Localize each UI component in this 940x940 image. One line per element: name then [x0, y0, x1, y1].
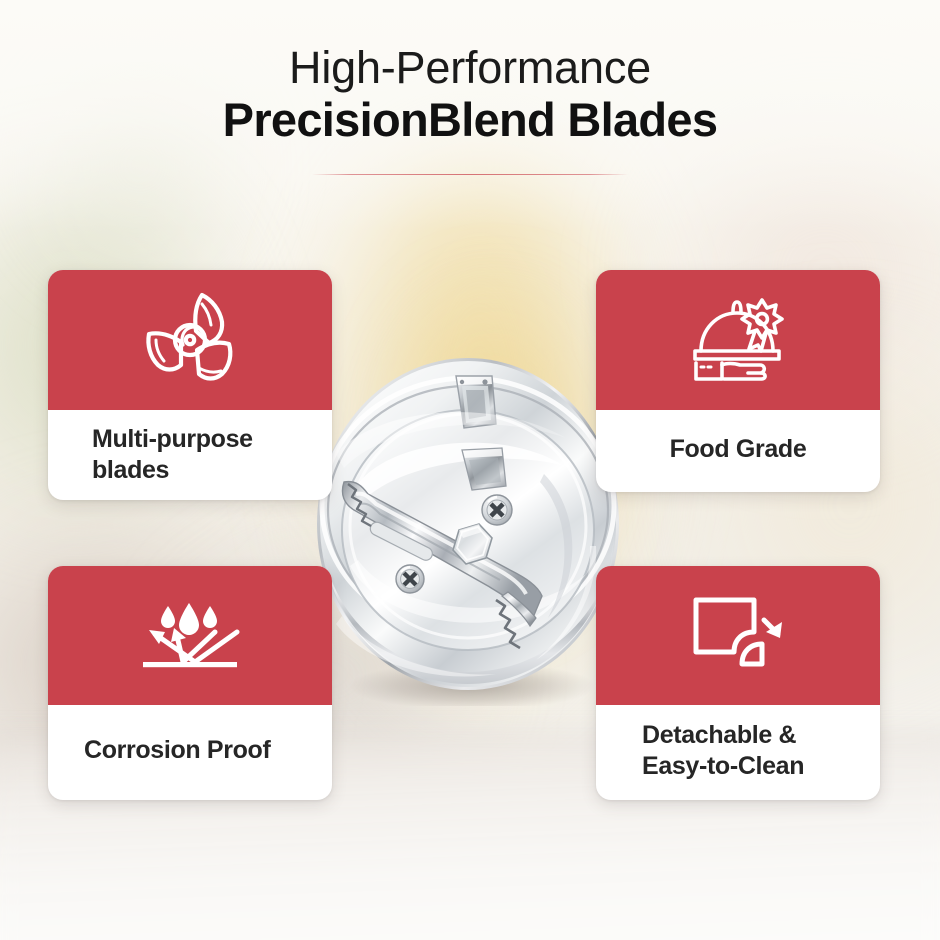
propeller-icon — [136, 288, 244, 392]
title-divider — [312, 174, 628, 175]
infographic-canvas: High-Performance PrecisionBlend Blades — [0, 0, 940, 940]
feature-card-corrosion-proof[interactable]: Corrosion Proof — [48, 566, 332, 800]
food-cloche-award-icon — [688, 293, 788, 387]
feature-icon-container-corrosion-proof — [48, 566, 332, 705]
feature-card-food-grade[interactable]: Food Grade — [596, 270, 880, 492]
header-title-block: High-Performance PrecisionBlend Blades — [0, 44, 940, 175]
feature-icon-container-multi-purpose-blades — [48, 270, 332, 410]
feature-card-detachable-easy-to-clean[interactable]: Detachable & Easy-to-Clean — [596, 566, 880, 800]
feature-card-multi-purpose-blades[interactable]: Multi-purpose blades — [48, 270, 332, 500]
feature-label-food-grade: Food Grade — [596, 410, 880, 492]
product-image-blender-blade-assembly — [296, 334, 644, 706]
detachable-corner-icon — [690, 594, 786, 678]
page-title-line-2: PrecisionBlend Blades — [0, 92, 940, 147]
feature-label-corrosion-proof: Corrosion Proof — [48, 705, 332, 800]
water-repellent-icon — [133, 594, 247, 678]
feature-label-detachable-easy-to-clean: Detachable & Easy-to-Clean — [596, 705, 880, 800]
feature-icon-container-food-grade — [596, 270, 880, 410]
feature-label-multi-purpose-blades: Multi-purpose blades — [48, 410, 332, 500]
feature-icon-container-detachable-easy-to-clean — [596, 566, 880, 705]
page-title-line-1: High-Performance — [0, 44, 940, 92]
